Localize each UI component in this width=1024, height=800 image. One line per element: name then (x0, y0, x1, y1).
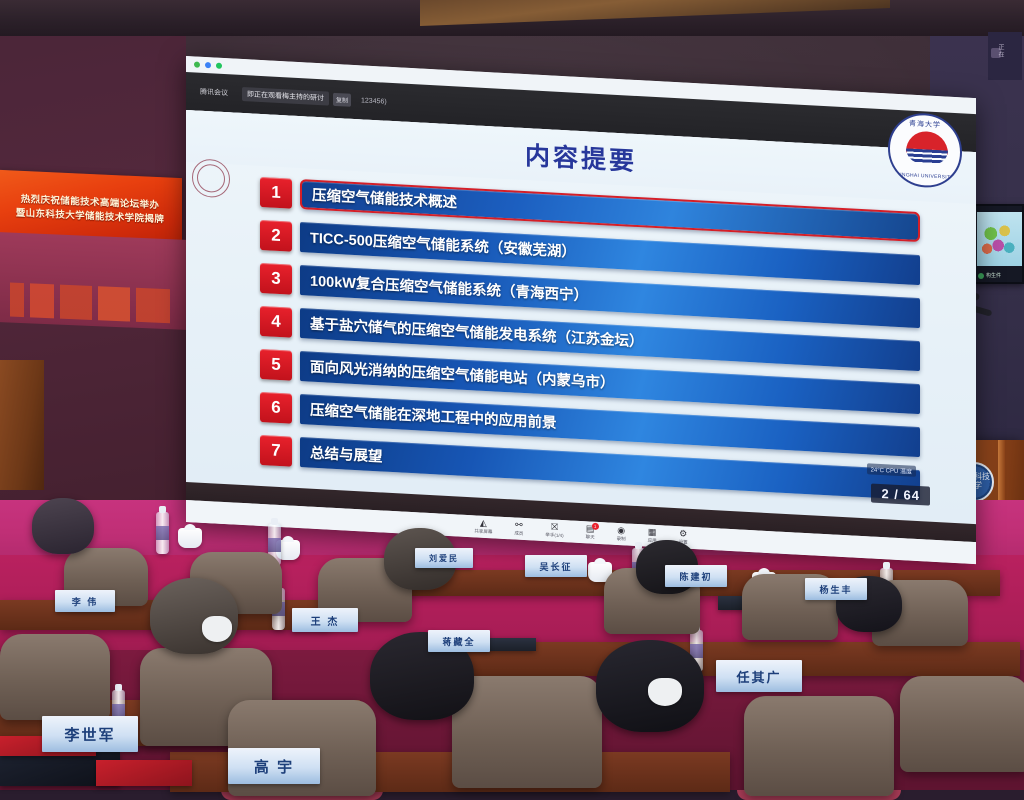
monitor-status-dot-icon (978, 273, 984, 279)
toolbar-item-label: 录制 (617, 536, 626, 542)
agenda-item-label: 面向风光消纳的压缩空气储能电站（内蒙乌市） (300, 355, 615, 393)
slide-title: 内容提要 (525, 136, 637, 178)
chair (744, 696, 894, 796)
toolbar-item-label: 成员 (514, 530, 523, 536)
agenda-item-number: 1 (260, 176, 292, 208)
record-button[interactable]: ◉录制 (617, 526, 626, 542)
agenda-item-label: 压缩空气储能技术概述 (302, 183, 457, 212)
conference-room-scene: 热烈庆祝储能技术高端论坛举办 暨山东科技大学储能技术学院揭牌 正在 ‹ 构生件 (0, 0, 1024, 787)
teacup (178, 528, 202, 548)
screen-share-icon: ◭ (480, 519, 487, 528)
chat-button[interactable]: ▤聊天1 (586, 524, 595, 540)
side-monitor-label: 构生件 (986, 272, 1001, 279)
agenda-item-number: 4 (260, 305, 292, 337)
raise-hand-button[interactable]: ⛝举手(1/4) (545, 522, 563, 539)
wall-control-panel[interactable] (988, 32, 1022, 80)
banner-cityscape-art (0, 232, 186, 330)
agenda-item-number: 6 (260, 391, 292, 423)
slide-canvas: 内容提要 青海大学 QINGHAI UNIVERSITY 1压缩空气储能技术概述… (186, 110, 976, 524)
face-mask (648, 678, 682, 706)
map-graphic (977, 212, 1023, 266)
audience-head (32, 498, 94, 554)
agenda-item-number: 2 (260, 219, 292, 251)
members-icon: ⚯ (515, 521, 523, 530)
university-logo: 青海大学 QINGHAI UNIVERSITY (888, 111, 962, 189)
nameplate: 杨生丰 (805, 578, 867, 600)
wall-panel-label: 正在 (996, 44, 1005, 58)
unread-badge: 1 (592, 523, 599, 530)
red-folder (96, 760, 192, 786)
agenda-item-label: 总结与展望 (300, 441, 383, 466)
nameplate: 刘爱民 (415, 548, 473, 568)
chair (900, 676, 1024, 772)
toolbar-item-label: 聊天 (586, 534, 595, 540)
nameplate: 李 伟 (55, 590, 115, 612)
agenda-item-number: 5 (260, 348, 292, 380)
app-name-label: 腾讯会议 (200, 87, 228, 98)
agenda-item-number: 7 (260, 434, 292, 466)
slide-page-indicator: 2 / 64 (871, 484, 930, 506)
agenda-item-label: 100kW复合压缩空气储能系统（青海西宁） (300, 269, 588, 305)
toolbar-item-label: 共享屏幕 (474, 528, 492, 535)
window-dot-3-icon[interactable] (216, 63, 222, 69)
nameplate: 吴长征 (525, 555, 587, 577)
settings-icon: ⚙ (679, 529, 687, 538)
left-wooden-podium (0, 360, 44, 490)
meeting-topic-chip[interactable]: 即正在观看梅主持的研讨 (242, 87, 329, 106)
chair (452, 676, 602, 788)
copy-meeting-info-button[interactable]: 复制 (333, 92, 351, 106)
window-dot-1-icon[interactable] (194, 61, 200, 67)
water-bottle (156, 512, 169, 554)
window-dot-2-icon[interactable] (205, 62, 211, 68)
agenda-item-label: 基于盐穴储气的压缩空气储能发电系统（江苏金坛） (300, 312, 644, 351)
toolbar-item-label: 举手(1/4) (545, 532, 563, 539)
nameplate: 王 杰 (292, 608, 358, 632)
agenda-item-number: 3 (260, 262, 292, 294)
raise-hand-icon: ⛝ (551, 522, 558, 531)
members-button[interactable]: ⚯成员 (514, 520, 523, 536)
apps-icon: ▦ (648, 528, 657, 537)
slide-watermark-seal (192, 158, 230, 198)
face-mask (202, 616, 232, 642)
chair (0, 634, 110, 720)
nameplate: 任其广 (716, 660, 802, 692)
logo-blue-waves (906, 148, 948, 164)
agenda-list: 1压缩空气储能技术概述2TICC-500压缩空气储能系统（安徽芜湖）3100kW… (260, 170, 920, 506)
agenda-item-label: TICC-500压缩空气储能系统（安徽芜湖） (300, 226, 576, 262)
agenda-item-label: 压缩空气储能在深地工程中的应用前景 (300, 398, 557, 433)
record-icon: ◉ (617, 526, 625, 535)
side-monitor: 构生件 (972, 204, 1024, 284)
nameplate: 陈建初 (665, 565, 727, 587)
nameplate: 高 宇 (228, 748, 320, 784)
projection-screen: 腾讯会议 即正在观看梅主持的研讨 复制 123456) 内容提要 青海大学 QI… (186, 56, 976, 564)
nameplate: 蒋藏全 (428, 630, 490, 652)
screen-share-button[interactable]: ◭共享屏幕 (474, 518, 492, 535)
nameplate: 李世军 (42, 716, 138, 752)
meeting-id-label: 123456) (361, 97, 387, 105)
